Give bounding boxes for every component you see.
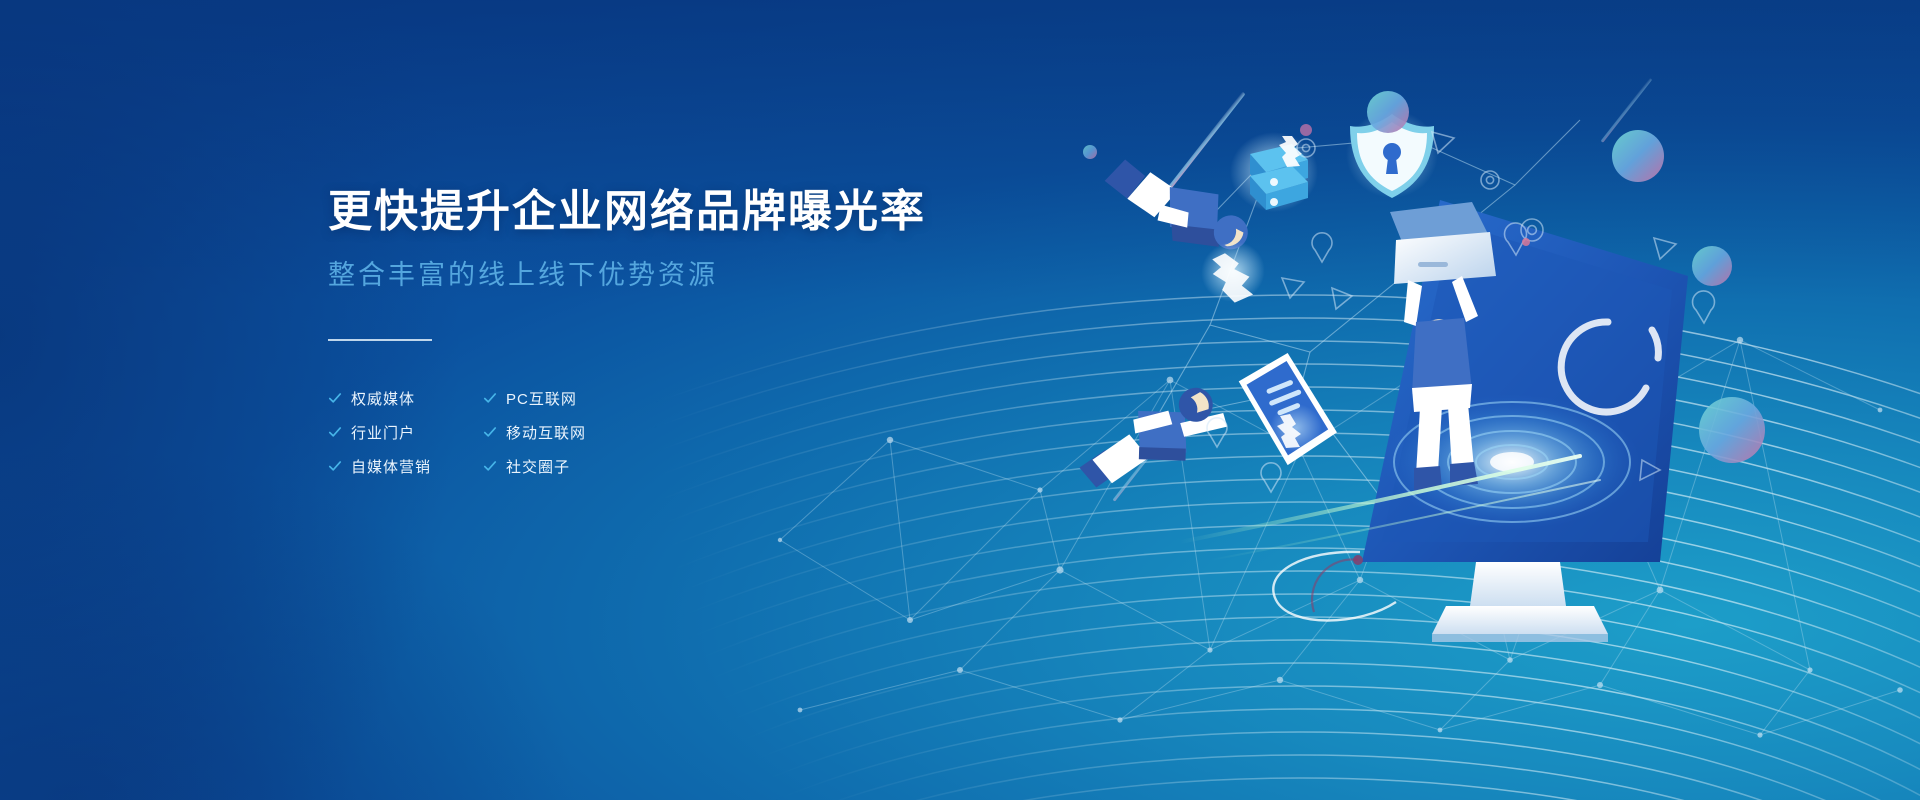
location-pin-icon: [1505, 223, 1527, 255]
feature-item-industry-portal: 行业门户: [328, 421, 483, 443]
check-icon: [328, 459, 342, 473]
title-divider: [328, 339, 432, 341]
feature-item-self-media-marketing: 自媒体营销: [328, 455, 483, 477]
page-subtitle: 整合丰富的线上线下优势资源: [328, 258, 968, 293]
triangle-icon: [1332, 288, 1352, 309]
feature-item-pc-internet: PC互联网: [483, 387, 638, 409]
feature-item-mobile-internet: 移动互联网: [483, 421, 638, 443]
person-lifting-laptop: [1390, 202, 1496, 490]
loop-ribbon: [1273, 552, 1396, 621]
triangle-icon: [1282, 278, 1304, 298]
hero-copy: 更快提升企业网络品牌曝光率 整合丰富的线上线下优势资源 权威媒体 PC互联网: [328, 186, 968, 477]
triangle-icon: [1640, 460, 1660, 480]
desktop-monitor: [1362, 200, 1688, 642]
hero-banner: 更快提升企业网络品牌曝光率 整合丰富的线上线下优势资源 权威媒体 PC互联网: [0, 0, 1920, 800]
feature-label: 移动互联网: [506, 422, 586, 443]
shield-lock-icon: [1346, 110, 1438, 198]
feature-list: 权威媒体 PC互联网 行业门户: [328, 387, 968, 477]
location-pin-icon: [1693, 291, 1715, 323]
ring-graphic: [1561, 322, 1658, 412]
gradient-spheres: [1083, 91, 1765, 463]
comet-streaks: [1113, 78, 1653, 502]
floating-micro-icons: [1207, 132, 1715, 492]
location-pin-icon: [1207, 418, 1227, 447]
feature-label: 自媒体营销: [351, 456, 431, 477]
check-icon: [328, 425, 342, 439]
check-icon: [483, 425, 497, 439]
feature-label: PC互联网: [506, 388, 577, 409]
space-network-illustration: [1060, 90, 1760, 650]
gear-icon: [1481, 171, 1499, 189]
feature-label: 权威媒体: [351, 388, 415, 409]
floating-astronaut-lower: [1071, 384, 1233, 489]
gear-icon: [1297, 139, 1315, 157]
laptop-icon: [1390, 202, 1496, 284]
triangle-icon: [1432, 132, 1454, 153]
floating-astronaut-upper: [1100, 129, 1272, 330]
green-light-streak: [1180, 456, 1600, 560]
feature-item-authoritative-media: 权威媒体: [328, 387, 483, 409]
cloud-server-icon: [1230, 132, 1318, 212]
check-icon: [483, 391, 497, 405]
icon-link-lines: [1155, 120, 1580, 510]
gear-icon: [1521, 219, 1543, 241]
page-title: 更快提升企业网络品牌曝光率: [328, 186, 968, 238]
sparkle-cluster: [1270, 404, 1322, 452]
orbit-arc: [1312, 555, 1363, 612]
feature-label: 行业门户: [351, 422, 415, 443]
feature-item-social-circles: 社交圈子: [483, 455, 638, 477]
location-pin-icon: [1261, 463, 1281, 492]
check-icon: [328, 391, 342, 405]
screen-glow-swirl: [1384, 394, 1640, 530]
location-pin-icon: [1312, 233, 1332, 262]
smartphone-icon: [1236, 347, 1342, 470]
feature-label: 社交圈子: [506, 456, 570, 477]
check-icon: [483, 459, 497, 473]
triangle-icon: [1654, 238, 1676, 259]
